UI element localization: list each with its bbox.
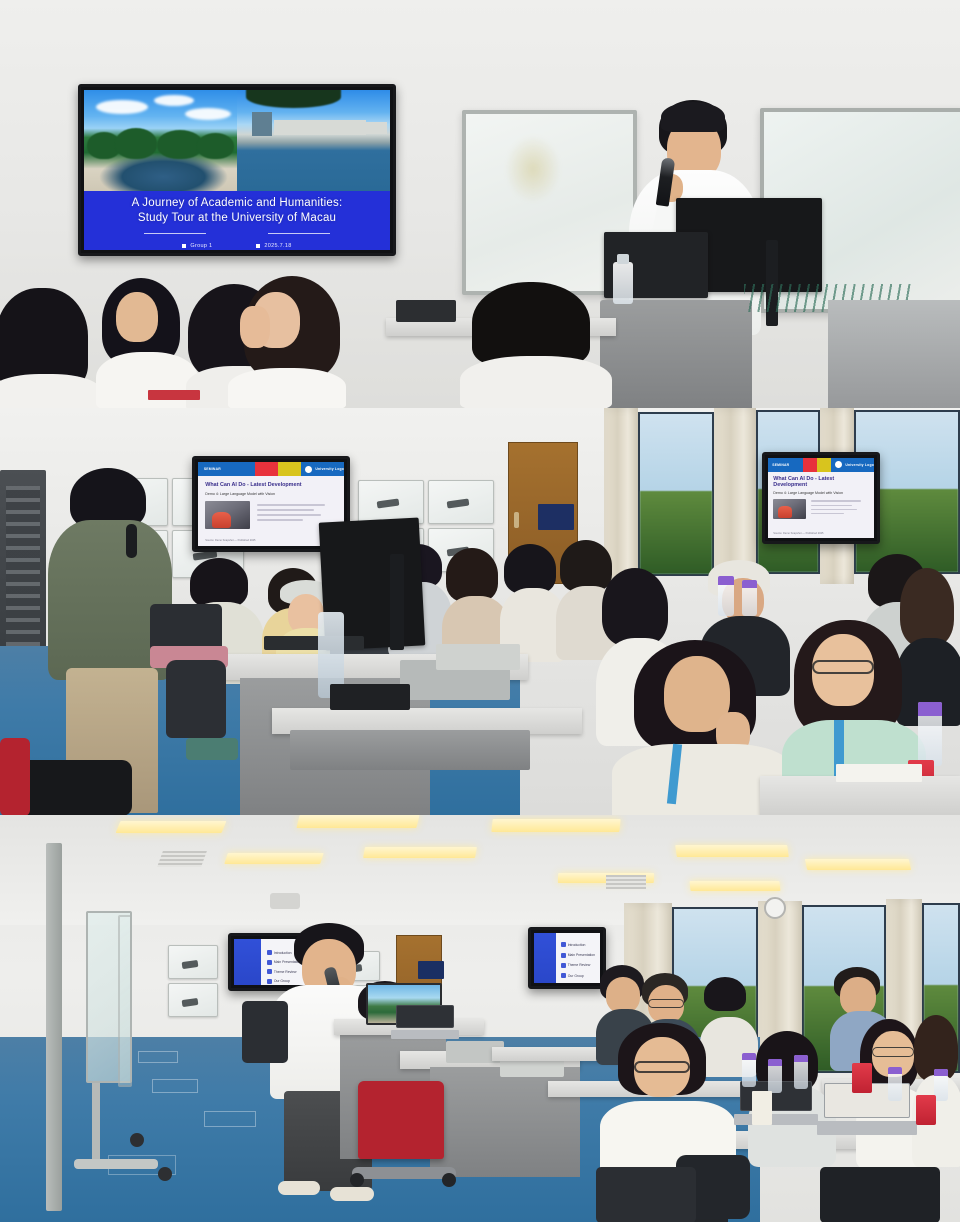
mobile-glass-whiteboard — [118, 915, 132, 1087]
bottle-cap — [888, 1067, 902, 1074]
ceiling-vent — [157, 851, 207, 867]
slide-subtitle: Demo 4: Large Language Model with Vision — [205, 492, 336, 496]
soda-can — [916, 1095, 936, 1125]
header-logo-text: University Logo — [845, 463, 874, 467]
bullet-icon — [561, 973, 566, 978]
student-hair — [446, 548, 498, 602]
slide-subtitle: Demo 4: Large Language Model with Vision — [773, 491, 868, 495]
backpack — [166, 660, 226, 738]
slide-header-bar: SEMINAR University Logo — [768, 458, 874, 472]
slide-footer: Source: Demo Snapshot — Published 2025 — [768, 532, 874, 538]
tv-screen: SEMINAR University Logo What Can AI Do -… — [768, 458, 874, 538]
water-bottle — [768, 1059, 782, 1093]
student-hair — [190, 558, 248, 608]
presenter-fringe — [661, 102, 725, 132]
university-logo-icon — [305, 466, 312, 473]
instructor-microphone — [126, 524, 137, 558]
whiteboard-stand-leg — [92, 1083, 100, 1163]
slide-image-thumbnail — [205, 501, 250, 529]
chair-frame[interactable] — [20, 760, 132, 815]
water-bottle — [918, 702, 942, 766]
bullet-item: Main Presentation — [561, 953, 595, 958]
bottle-cap — [934, 1069, 948, 1076]
caster-wheel-icon — [130, 1133, 144, 1147]
av-rack-box — [396, 300, 456, 322]
notebook — [836, 764, 922, 782]
laptop-keyboard — [391, 1030, 458, 1039]
slide-title: What Can AI Do - Latest Development — [773, 476, 868, 488]
caster-wheel-icon — [350, 1173, 364, 1187]
slide-title-slide: A Journey of Academic and Humanities: St… — [84, 90, 390, 250]
header-red-block — [255, 462, 278, 476]
equipment-box — [330, 684, 410, 710]
ceiling-light — [296, 815, 419, 828]
bottle-cap — [768, 1059, 782, 1066]
whiteboard-stand-base — [74, 1159, 158, 1169]
bottle-cap — [742, 1053, 756, 1060]
slide-bullet-list: Introduction Main Presentation Theme Rev… — [556, 933, 600, 983]
laptop[interactable] — [396, 1005, 454, 1039]
bottle-cap — [742, 580, 757, 588]
slide-content-row — [205, 501, 336, 529]
header-logo-segment: University Logo — [831, 458, 874, 472]
slide-ai-right: SEMINAR University Logo What Can AI Do -… — [768, 458, 874, 538]
caster-wheel-icon — [158, 1167, 172, 1181]
right-tv: Introduction Main Presentation Theme Rev… — [528, 927, 606, 989]
ceiling-light — [491, 819, 620, 832]
slide-bullets-right: Introduction Main Presentation Theme Rev… — [534, 933, 600, 983]
caster-wheel-icon — [442, 1173, 456, 1187]
audience-shirt — [228, 368, 346, 408]
bullet-icon — [561, 942, 566, 947]
water-bottle — [742, 1053, 756, 1087]
laptop-screen — [396, 1005, 454, 1028]
panel-presenter-with-title-slide: A Journey of Academic and Humanities: St… — [0, 0, 960, 408]
floor-access-panel — [204, 1111, 256, 1127]
laptop-keyboard — [734, 1114, 818, 1125]
chair[interactable] — [820, 1167, 940, 1222]
right-tv-display: SEMINAR University Logo What Can AI Do -… — [762, 452, 880, 544]
university-logo-icon — [835, 461, 842, 468]
window — [638, 412, 714, 576]
ceiling-light — [675, 845, 789, 857]
whiteboard-small — [428, 480, 494, 524]
partition-post — [46, 843, 62, 1211]
bullet-item: Theme Review — [561, 963, 595, 968]
lab-keyboard — [264, 636, 364, 650]
student-hair — [704, 977, 746, 1011]
floor-access-panel — [138, 1051, 178, 1063]
photo-collage: A Journey of Academic and Humanities: St… — [0, 0, 960, 1222]
header-brand-text: SEMINAR — [772, 463, 789, 467]
door-sign — [538, 504, 574, 530]
slide-meta-row: Group 1 2025.7.18 — [182, 243, 291, 249]
audience-member — [460, 282, 610, 408]
water-bottle — [888, 1067, 902, 1101]
square-bullet-icon — [182, 244, 186, 248]
wall-mounted-tv: A Journey of Academic and Humanities: St… — [78, 84, 396, 256]
door-handle-icon — [514, 512, 519, 528]
audience-shirt — [460, 356, 612, 408]
milk-carton — [752, 1091, 772, 1125]
panel-presenter-walking-in-lab: Introduction Main Presentation Theme Rev… — [0, 815, 960, 1222]
header-logo-segment: University Logo — [301, 462, 344, 476]
water-bottle — [934, 1069, 948, 1101]
chair-cushion-teal — [186, 738, 238, 760]
slide-title-line-2: Study Tour at the University of Macau — [138, 211, 336, 227]
equipment-box — [436, 644, 520, 670]
water-bottle — [742, 580, 757, 616]
tv-screen: A Journey of Academic and Humanities: St… — [84, 90, 390, 250]
header-brand-segment: SEMINAR — [198, 462, 255, 476]
audience-shirt — [0, 374, 102, 408]
slide-photo-pair — [84, 90, 390, 191]
laptop-keyboard — [817, 1121, 917, 1135]
audience-head — [116, 292, 158, 342]
slide-accent-panel — [534, 933, 556, 983]
eyeglasses-icon — [812, 660, 874, 674]
slide-accent-panel — [234, 939, 261, 985]
bottle-cap — [794, 1055, 808, 1062]
audience-member — [96, 278, 196, 408]
monitor-arm — [766, 240, 778, 326]
header-logo-text: University Logo — [315, 467, 344, 471]
bottle-cap — [918, 702, 942, 716]
office-chair-red[interactable] — [358, 1081, 444, 1159]
audience-hair — [472, 282, 590, 366]
ceiling-light — [116, 821, 227, 833]
bullet-icon — [561, 963, 566, 968]
slide-body: What Can AI Do - Latest Development Demo… — [768, 472, 874, 532]
notebook-on-desk — [148, 390, 200, 400]
bullet-item: Introduction — [561, 942, 595, 947]
presenter-shoe — [330, 1187, 374, 1201]
whiteboard-small — [168, 983, 218, 1017]
wall-clock-icon — [764, 897, 786, 919]
ceiling-light — [363, 847, 477, 858]
ceiling-light — [224, 853, 324, 864]
slide-title-line-1: A Journey of Academic and Humanities: — [132, 196, 343, 212]
header-brand-text: SEMINAR — [204, 467, 221, 471]
lab-bench-drawer — [290, 730, 530, 770]
slide-meta-date: 2025.7.18 — [256, 243, 291, 249]
eyeglasses-icon — [648, 999, 684, 1008]
floor-access-panel — [152, 1079, 198, 1093]
slide-photo-right — [237, 90, 390, 191]
header-yellow-block — [817, 458, 831, 472]
slide-title: What Can AI Do - Latest Development — [205, 482, 336, 488]
curtain — [714, 408, 756, 584]
chair[interactable] — [596, 1167, 696, 1222]
chair-base-star — [352, 1167, 456, 1179]
slide-text-lines — [811, 499, 869, 519]
server-rack-lights — [6, 486, 40, 666]
student-head — [840, 977, 876, 1015]
whiteboard-marker-smudge — [505, 135, 561, 203]
header-brand-segment: SEMINAR — [768, 458, 803, 472]
monitor-arm — [390, 554, 404, 650]
slide-divider-rules — [144, 233, 330, 234]
presenter-shoe — [278, 1181, 320, 1195]
audience-member — [222, 276, 344, 408]
slide-photo-left — [84, 90, 237, 191]
square-bullet-icon — [256, 244, 260, 248]
hand-sanitizer-bottle — [613, 262, 633, 304]
water-bottle — [718, 576, 734, 616]
slide-image-thumbnail — [773, 499, 805, 519]
wall-notice — [418, 961, 444, 979]
audience-member — [0, 288, 100, 408]
ceiling-light — [689, 881, 780, 891]
slide-header-bar: SEMINAR University Logo — [198, 462, 344, 476]
panel-lecture-room-wide-view: SEMINAR University Logo What Can AI Do -… — [0, 408, 960, 815]
student-hair — [504, 544, 556, 594]
bottle-cap — [718, 576, 734, 585]
ceiling-vent — [606, 875, 646, 889]
chair-red-partial — [0, 738, 30, 815]
ceiling-light — [805, 859, 911, 870]
water-bottle — [794, 1055, 808, 1089]
tv-screen: Introduction Main Presentation Theme Rev… — [534, 933, 600, 983]
soda-can — [852, 1063, 872, 1093]
header-yellow-block — [278, 462, 301, 476]
eyeglasses-icon — [634, 1061, 690, 1073]
header-red-block — [803, 458, 817, 472]
lectern — [600, 300, 752, 408]
slide-meta-group: Group 1 — [182, 243, 212, 249]
audience-hand — [240, 306, 270, 348]
sanitizer-pump-icon — [617, 254, 629, 264]
whiteboard-small — [168, 945, 218, 979]
projector — [270, 893, 300, 909]
bullet-item: Our Group — [561, 973, 595, 978]
right-side-cabinet — [828, 300, 960, 408]
folding-chair[interactable] — [242, 1001, 288, 1063]
slide-caption-block: A Journey of Academic and Humanities: St… — [84, 191, 390, 250]
student-hair — [602, 568, 668, 646]
slide-content-row — [773, 499, 868, 519]
student — [500, 544, 564, 660]
bullet-icon — [561, 953, 566, 958]
student-head — [606, 977, 640, 1013]
eyeglasses-icon — [872, 1047, 914, 1057]
